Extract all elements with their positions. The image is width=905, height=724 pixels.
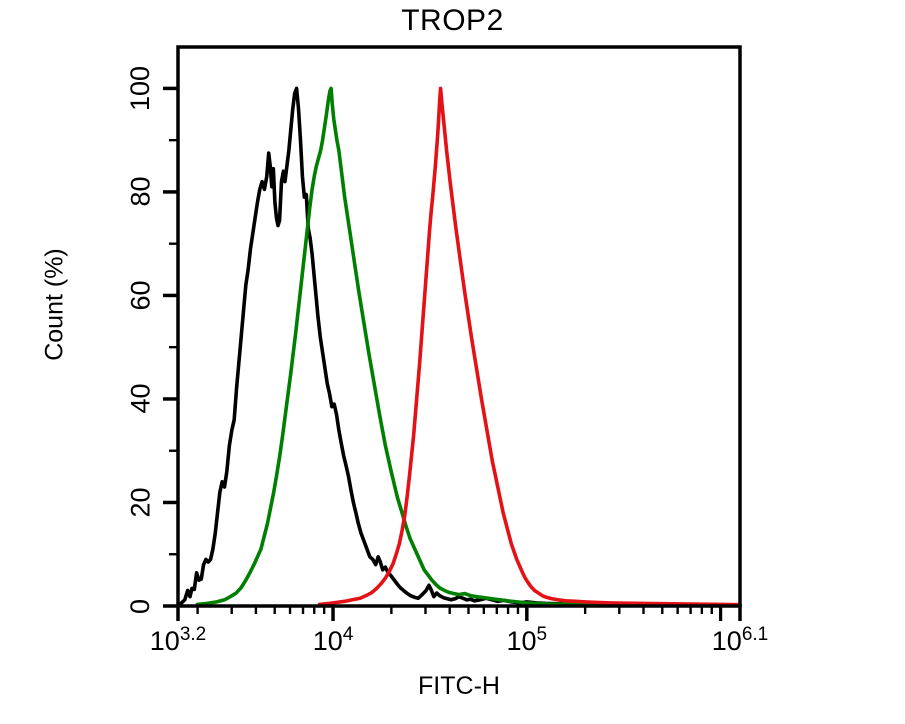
plot-frame [178,47,740,606]
y-tick-label-0: 0 [125,598,156,613]
curve-red-histogram [319,88,740,604]
y-axis-label: Count (%) [41,185,70,425]
histogram-curves [181,88,740,605]
y-tick-label-4: 80 [125,177,156,207]
curve-green-histogram [197,88,740,605]
axis-ticks [163,88,740,621]
flow-cytometry-figure: TROP2 Count (%) FITC-H 103.2104105106.1 … [0,0,905,724]
y-tick-label-5: 100 [125,66,156,111]
x-tick-label-3: 106.1 [712,626,768,657]
y-tick-label-1: 20 [125,487,156,517]
x-tick-label-0: 103.2 [150,626,206,657]
x-tick-label-2: 105 [507,626,548,657]
y-tick-label-3: 60 [125,280,156,310]
page-title: TROP2 [0,4,905,38]
x-axis-label: FITC-H [178,672,740,701]
y-tick-label-2: 40 [125,384,156,414]
x-tick-label-1: 104 [313,626,354,657]
